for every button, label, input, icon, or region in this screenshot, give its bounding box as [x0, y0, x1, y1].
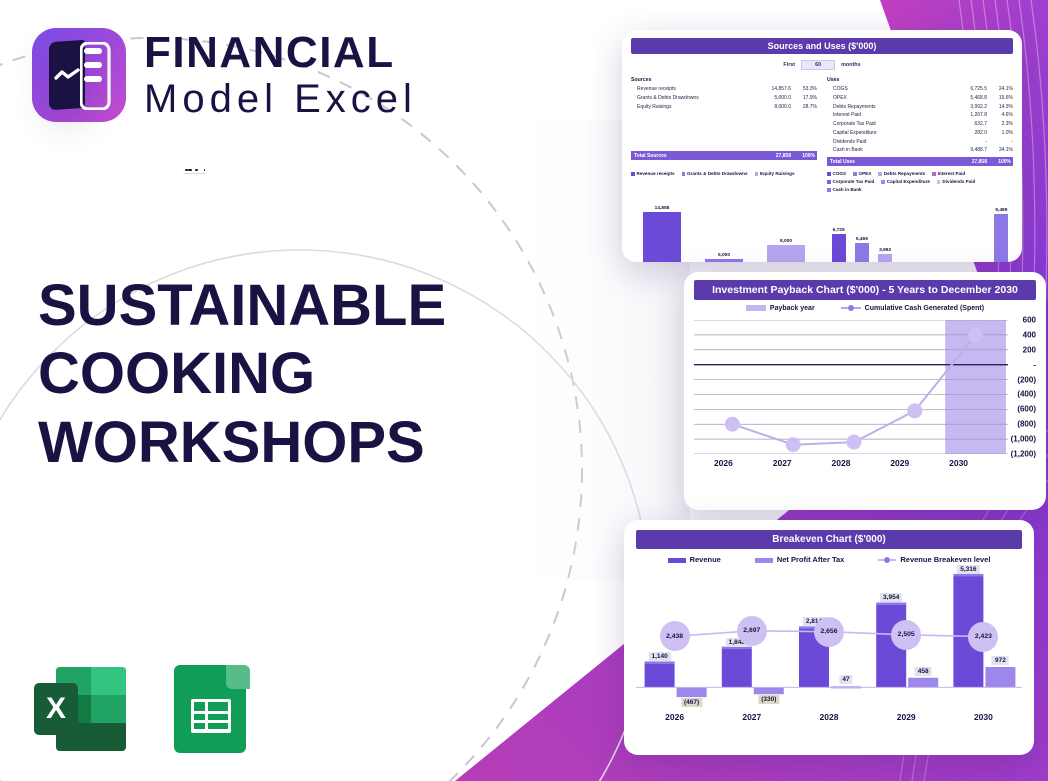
- legend-swatch: [755, 172, 759, 176]
- brand-wordmark: FINANCIAL Model Excel: [144, 31, 417, 119]
- legend-swatch: [881, 180, 885, 184]
- uses-heading: Uses: [827, 77, 1013, 83]
- net-profit-value-label: 972: [992, 656, 1009, 665]
- excel-x-glyph: X: [34, 683, 78, 735]
- y-axis-tick: -: [1033, 360, 1036, 369]
- months-input[interactable]: 60: [801, 60, 835, 70]
- legend-label: Net Profit After Tax: [777, 555, 845, 564]
- x-axis-tick: 2027: [773, 458, 792, 468]
- legend-label: Dividends Paid: [942, 179, 975, 184]
- net-profit-value-label: 47: [839, 675, 852, 684]
- breakeven-value-bubble: 2,505: [891, 620, 921, 650]
- bar-rect: [705, 259, 743, 262]
- row-pct: 2.3%: [987, 120, 1013, 129]
- uses-total-row: Total Uses27,858100%: [827, 157, 1013, 166]
- total-value: 27,858: [751, 153, 791, 159]
- legend-swatch: [682, 172, 686, 176]
- breakeven-x-axis: 20262027202820292030: [636, 712, 1022, 722]
- bar-value-label: 8,000: [780, 239, 792, 244]
- chart-bar: 8,000: [767, 198, 805, 262]
- legend-swatch: [932, 172, 936, 176]
- legend-label: Grants & Debts Drawdowns: [687, 171, 748, 176]
- financial-model-excel-logo-icon: [32, 28, 126, 122]
- x-axis-tick: 2028: [790, 712, 867, 722]
- legend-label: OPEX: [859, 171, 872, 176]
- legend-swatch: [937, 180, 941, 184]
- legend-swatch: [827, 180, 831, 184]
- row-value: 3,992.2: [947, 103, 987, 112]
- x-axis-tick: 2030: [949, 458, 968, 468]
- bar-value-label: 14,858: [655, 206, 670, 211]
- row-value: 282.0: [947, 129, 987, 138]
- legend-label: Corporate Tax Paid: [833, 179, 875, 184]
- row-pct: 19.6%: [987, 94, 1013, 103]
- investment-payback-card[interactable]: Investment Payback Chart ($'000) - 5 Yea…: [684, 272, 1046, 510]
- headline-line-3: WORKSHOPS: [38, 409, 498, 477]
- legend-item-breakeven-level: Revenue Breakeven level: [878, 555, 990, 564]
- bar-rect: [832, 234, 846, 262]
- y-axis-tick: (800): [1017, 420, 1036, 429]
- chart-bar: 633: [925, 198, 939, 262]
- legend-label: Cash in Bank: [833, 187, 862, 192]
- table-row: Capital Expenditure282.01.0%: [827, 129, 1013, 138]
- row-pct: 53.3%: [791, 85, 817, 94]
- legend-swatch: [755, 558, 773, 563]
- row-pct: 24.1%: [987, 85, 1013, 94]
- x-axis-tick: 2028: [832, 458, 851, 468]
- revenue-value-label: 1,140: [648, 652, 670, 661]
- breakeven-value-bubble: 2,423: [968, 622, 998, 652]
- row-label: Cash in Bank: [827, 146, 947, 155]
- total-value: 27,858: [947, 159, 987, 165]
- legend-swatch: [668, 558, 686, 563]
- uses-bar-chart: 6,7255,4693,9921,26863328209,489: [827, 198, 1013, 262]
- brand-line-1: FINANCIAL: [144, 31, 417, 75]
- row-value: 1,267.8: [947, 111, 987, 120]
- brand-line-2-prefix: M: [144, 79, 182, 119]
- table-row: Interest Paid1,267.84.6%: [827, 111, 1013, 120]
- row-value: 14,857.6: [751, 85, 791, 94]
- y-axis-tick: 600: [1023, 316, 1036, 325]
- chart-bar: 0: [971, 198, 985, 262]
- y-axis-tick: 400: [1023, 330, 1036, 339]
- row-pct: 17.9%: [791, 94, 817, 103]
- breakeven-value-bubble: 2,438: [660, 621, 690, 651]
- bar-value-label: 5,000: [718, 253, 730, 258]
- legend-item: Cash in Bank: [827, 187, 862, 192]
- total-label: Total Uses: [827, 159, 947, 165]
- y-axis-tick: (200): [1017, 375, 1036, 384]
- table-row: Corporate Tax Paid632.72.3%: [827, 120, 1013, 129]
- row-pct: 1.0%: [987, 129, 1013, 138]
- months-suffix-label: months: [841, 62, 860, 68]
- payback-plot: 600400200-(200)(400)(600)(800)(1,000)(1,…: [694, 320, 1036, 468]
- row-value: 6,725.5: [947, 85, 987, 94]
- legend-item: Dividends Paid: [937, 179, 975, 184]
- row-label: COGS: [827, 85, 947, 94]
- sources-bar-chart: 14,8585,0008,000: [631, 198, 817, 262]
- bar-rect: [767, 245, 805, 262]
- uses-chart-legend: COGSOPEXDebts RepaymentsInterest PaidCor…: [827, 171, 1013, 192]
- legend-label: Payback year: [770, 305, 815, 312]
- legend-item: Grants & Debts Drawdowns: [682, 171, 748, 192]
- breakeven-title: Breakeven Chart ($'000): [636, 530, 1022, 549]
- chart-bar: 5,469: [855, 198, 869, 262]
- x-axis-tick: 2029: [890, 458, 909, 468]
- total-pct: 100%: [791, 153, 817, 159]
- row-pct: -: [987, 138, 1013, 147]
- legend-label: Equity Raisings: [760, 171, 794, 176]
- net-profit-value-label: (467): [681, 698, 702, 707]
- brand-line-2: Model Excel: [144, 79, 417, 119]
- headline-line-2: COOKING: [38, 340, 498, 408]
- legend-label: COGS: [833, 171, 847, 176]
- headline-line-1: SUSTAINABLE: [38, 272, 498, 340]
- legend-swatch: [746, 305, 766, 311]
- row-label: Revenue receipts: [631, 85, 751, 94]
- chart-bar: 3,992: [878, 198, 892, 262]
- page-title: SUSTAINABLE COOKING WORKSHOPS: [38, 272, 498, 477]
- table-row: OPEX5,468.819.6%: [827, 94, 1013, 103]
- row-value: 632.7: [947, 120, 987, 129]
- y-axis-tick: (400): [1017, 390, 1036, 399]
- poster-canvas: FINANCIAL Model Excel SUSTAINABLE COOKIN…: [0, 0, 1048, 781]
- row-value: 8,000.0: [751, 103, 791, 112]
- breakeven-plot: 20262027202820292030 1,140(467)2,4381,84…: [636, 570, 1022, 722]
- x-axis-tick: 2029: [868, 712, 945, 722]
- revenue-value-label: 3,954: [880, 593, 902, 602]
- x-axis-tick: 2026: [714, 458, 733, 468]
- legend-line-marker: [878, 559, 896, 561]
- sources-heading: Sources: [631, 77, 817, 83]
- payback-x-axis: 20262027202820292030: [694, 458, 988, 468]
- y-axis-tick: (600): [1017, 405, 1036, 414]
- x-axis-tick: 2030: [945, 712, 1022, 722]
- brand-logo: FINANCIAL Model Excel: [32, 28, 417, 122]
- legend-item: Interest Paid: [932, 171, 965, 176]
- legend-item: Corporate Tax Paid: [827, 179, 874, 184]
- legend-item: Capital Expenditure: [881, 179, 930, 184]
- legend-swatch: [878, 172, 882, 176]
- payback-title: Investment Payback Chart ($'000) - 5 Yea…: [694, 280, 1036, 300]
- bar-rect: [855, 243, 869, 262]
- table-row: Dividends Paid--: [827, 138, 1013, 147]
- row-label: Dividends Paid: [827, 138, 947, 147]
- legend-item-net-profit: Net Profit After Tax: [755, 555, 845, 564]
- legend-label: Revenue: [690, 555, 721, 564]
- legend-item: Revenue receipts: [631, 171, 675, 192]
- legend-swatch: [631, 172, 635, 176]
- sources-total-row: Total Sources27,858100%: [631, 151, 817, 160]
- row-value: 5,000.0: [751, 94, 791, 103]
- y-axis-tick: 200: [1023, 345, 1036, 354]
- table-row: Equity Raisings8,000.028.7%: [631, 103, 817, 112]
- legend-label: Capital Expenditure: [887, 179, 930, 184]
- legend-label: Revenue Breakeven level: [900, 555, 990, 564]
- bar-rect: [878, 254, 892, 262]
- breakeven-value-bubble: 2,697: [737, 616, 767, 646]
- legend-label: Debts Repayments: [884, 171, 925, 176]
- breakeven-card[interactable]: Breakeven Chart ($'000) Revenue Net Prof…: [624, 520, 1034, 755]
- legend-item-payback-year: Payback year: [746, 305, 815, 312]
- bar-value-label: 3,992: [879, 248, 891, 253]
- row-value: 5,468.8: [947, 94, 987, 103]
- table-row: Cash in Bank9,488.734.1%: [827, 146, 1013, 155]
- legend-swatch: [853, 172, 857, 176]
- legend-label: Revenue receipts: [637, 171, 675, 176]
- bar-rect: [994, 214, 1008, 262]
- row-label: Equity Raisings: [631, 103, 751, 112]
- table-row: COGS6,725.524.1%: [827, 85, 1013, 94]
- legend-item: OPEX: [853, 171, 871, 176]
- legend-line-marker: [841, 307, 861, 309]
- chart-bar: 282: [948, 198, 962, 262]
- x-axis-tick: 2026: [636, 712, 713, 722]
- legend-item-cumulative-cash: Cumulative Cash Generated (Spent): [841, 305, 984, 312]
- row-value: 9,488.7: [947, 146, 987, 155]
- uses-table: Uses COGS6,725.524.1% OPEX5,468.819.6% D…: [827, 77, 1013, 166]
- sources-and-uses-card[interactable]: Sources and Uses ($'000) First 60 months…: [622, 30, 1022, 262]
- bar-value-label: 9,489: [995, 208, 1007, 213]
- row-pct: 14.3%: [987, 103, 1013, 112]
- chart-bar: 1,268: [901, 198, 915, 262]
- sources-table: Sources Revenue receipts14,857.653.3% Gr…: [631, 77, 817, 166]
- net-profit-value-label: 458: [915, 667, 932, 676]
- row-label: Interest Paid: [827, 111, 947, 120]
- months-control[interactable]: First 60 months: [631, 60, 1013, 70]
- chart-bar: 14,858: [643, 198, 681, 262]
- row-label: OPEX: [827, 94, 947, 103]
- payback-legend: Payback year Cumulative Cash Generated (…: [694, 305, 1036, 312]
- legend-item: Debts Repayments: [878, 171, 925, 176]
- legend-swatch: [827, 188, 831, 192]
- y-axis-tick: (1,200): [1011, 450, 1036, 459]
- legend-label: Cumulative Cash Generated (Spent): [865, 305, 984, 312]
- net-profit-value-label: (330): [758, 695, 779, 704]
- y-axis-tick: (1,000): [1011, 435, 1036, 444]
- google-sheets-icon: [174, 663, 250, 755]
- legend-item: COGS: [827, 171, 846, 176]
- x-axis-tick: 2027: [713, 712, 790, 722]
- total-label: Total Sources: [631, 153, 751, 159]
- row-label: Corporate Tax Paid: [827, 120, 947, 129]
- chart-bar: 6,725: [832, 198, 846, 262]
- table-row: Debts Repayments3,992.214.3%: [827, 103, 1013, 112]
- row-value: -: [947, 138, 987, 147]
- row-label: Grants & Debts Drawdowns: [631, 94, 751, 103]
- row-pct: 28.7%: [791, 103, 817, 112]
- chart-bar: 5,000: [705, 198, 743, 262]
- legend-label: Interest Paid: [938, 171, 966, 176]
- payback-y-axis: 600400200-(200)(400)(600)(800)(1,000)(1,…: [994, 320, 1036, 452]
- revenue-value-label: 5,316: [957, 565, 979, 574]
- legend-item: Equity Raisings: [755, 171, 795, 192]
- sources-uses-title: Sources and Uses ($'000): [631, 38, 1013, 54]
- months-prefix-label: First: [783, 62, 795, 68]
- supported-apps: X: [34, 663, 250, 755]
- sources-chart-legend: Revenue receiptsGrants & Debts Drawdowns…: [631, 171, 817, 192]
- breakeven-value-bubble: 2,656: [814, 617, 844, 647]
- brand-o-glyph-icon: o: [182, 79, 209, 119]
- legend-item-revenue: Revenue: [668, 555, 721, 564]
- row-label: Debts Repayments: [827, 103, 947, 112]
- chart-bar: 9,489: [994, 198, 1008, 262]
- legend-swatch: [827, 172, 831, 176]
- breakeven-legend: Revenue Net Profit After Tax Revenue Bre…: [636, 555, 1022, 564]
- bar-rect: [643, 212, 681, 262]
- bar-value-label: 6,725: [833, 228, 845, 233]
- table-row: Grants & Debts Drawdowns5,000.017.9%: [631, 94, 817, 103]
- microsoft-excel-icon: X: [34, 663, 126, 755]
- bar-value-label: 5,469: [856, 237, 868, 242]
- total-pct: 100%: [987, 159, 1013, 165]
- table-row: Revenue receipts14,857.653.3%: [631, 85, 817, 94]
- row-label: Capital Expenditure: [827, 129, 947, 138]
- brand-line-2-suffix: del Excel: [210, 79, 417, 119]
- row-pct: 4.6%: [987, 111, 1013, 120]
- row-pct: 34.1%: [987, 146, 1013, 155]
